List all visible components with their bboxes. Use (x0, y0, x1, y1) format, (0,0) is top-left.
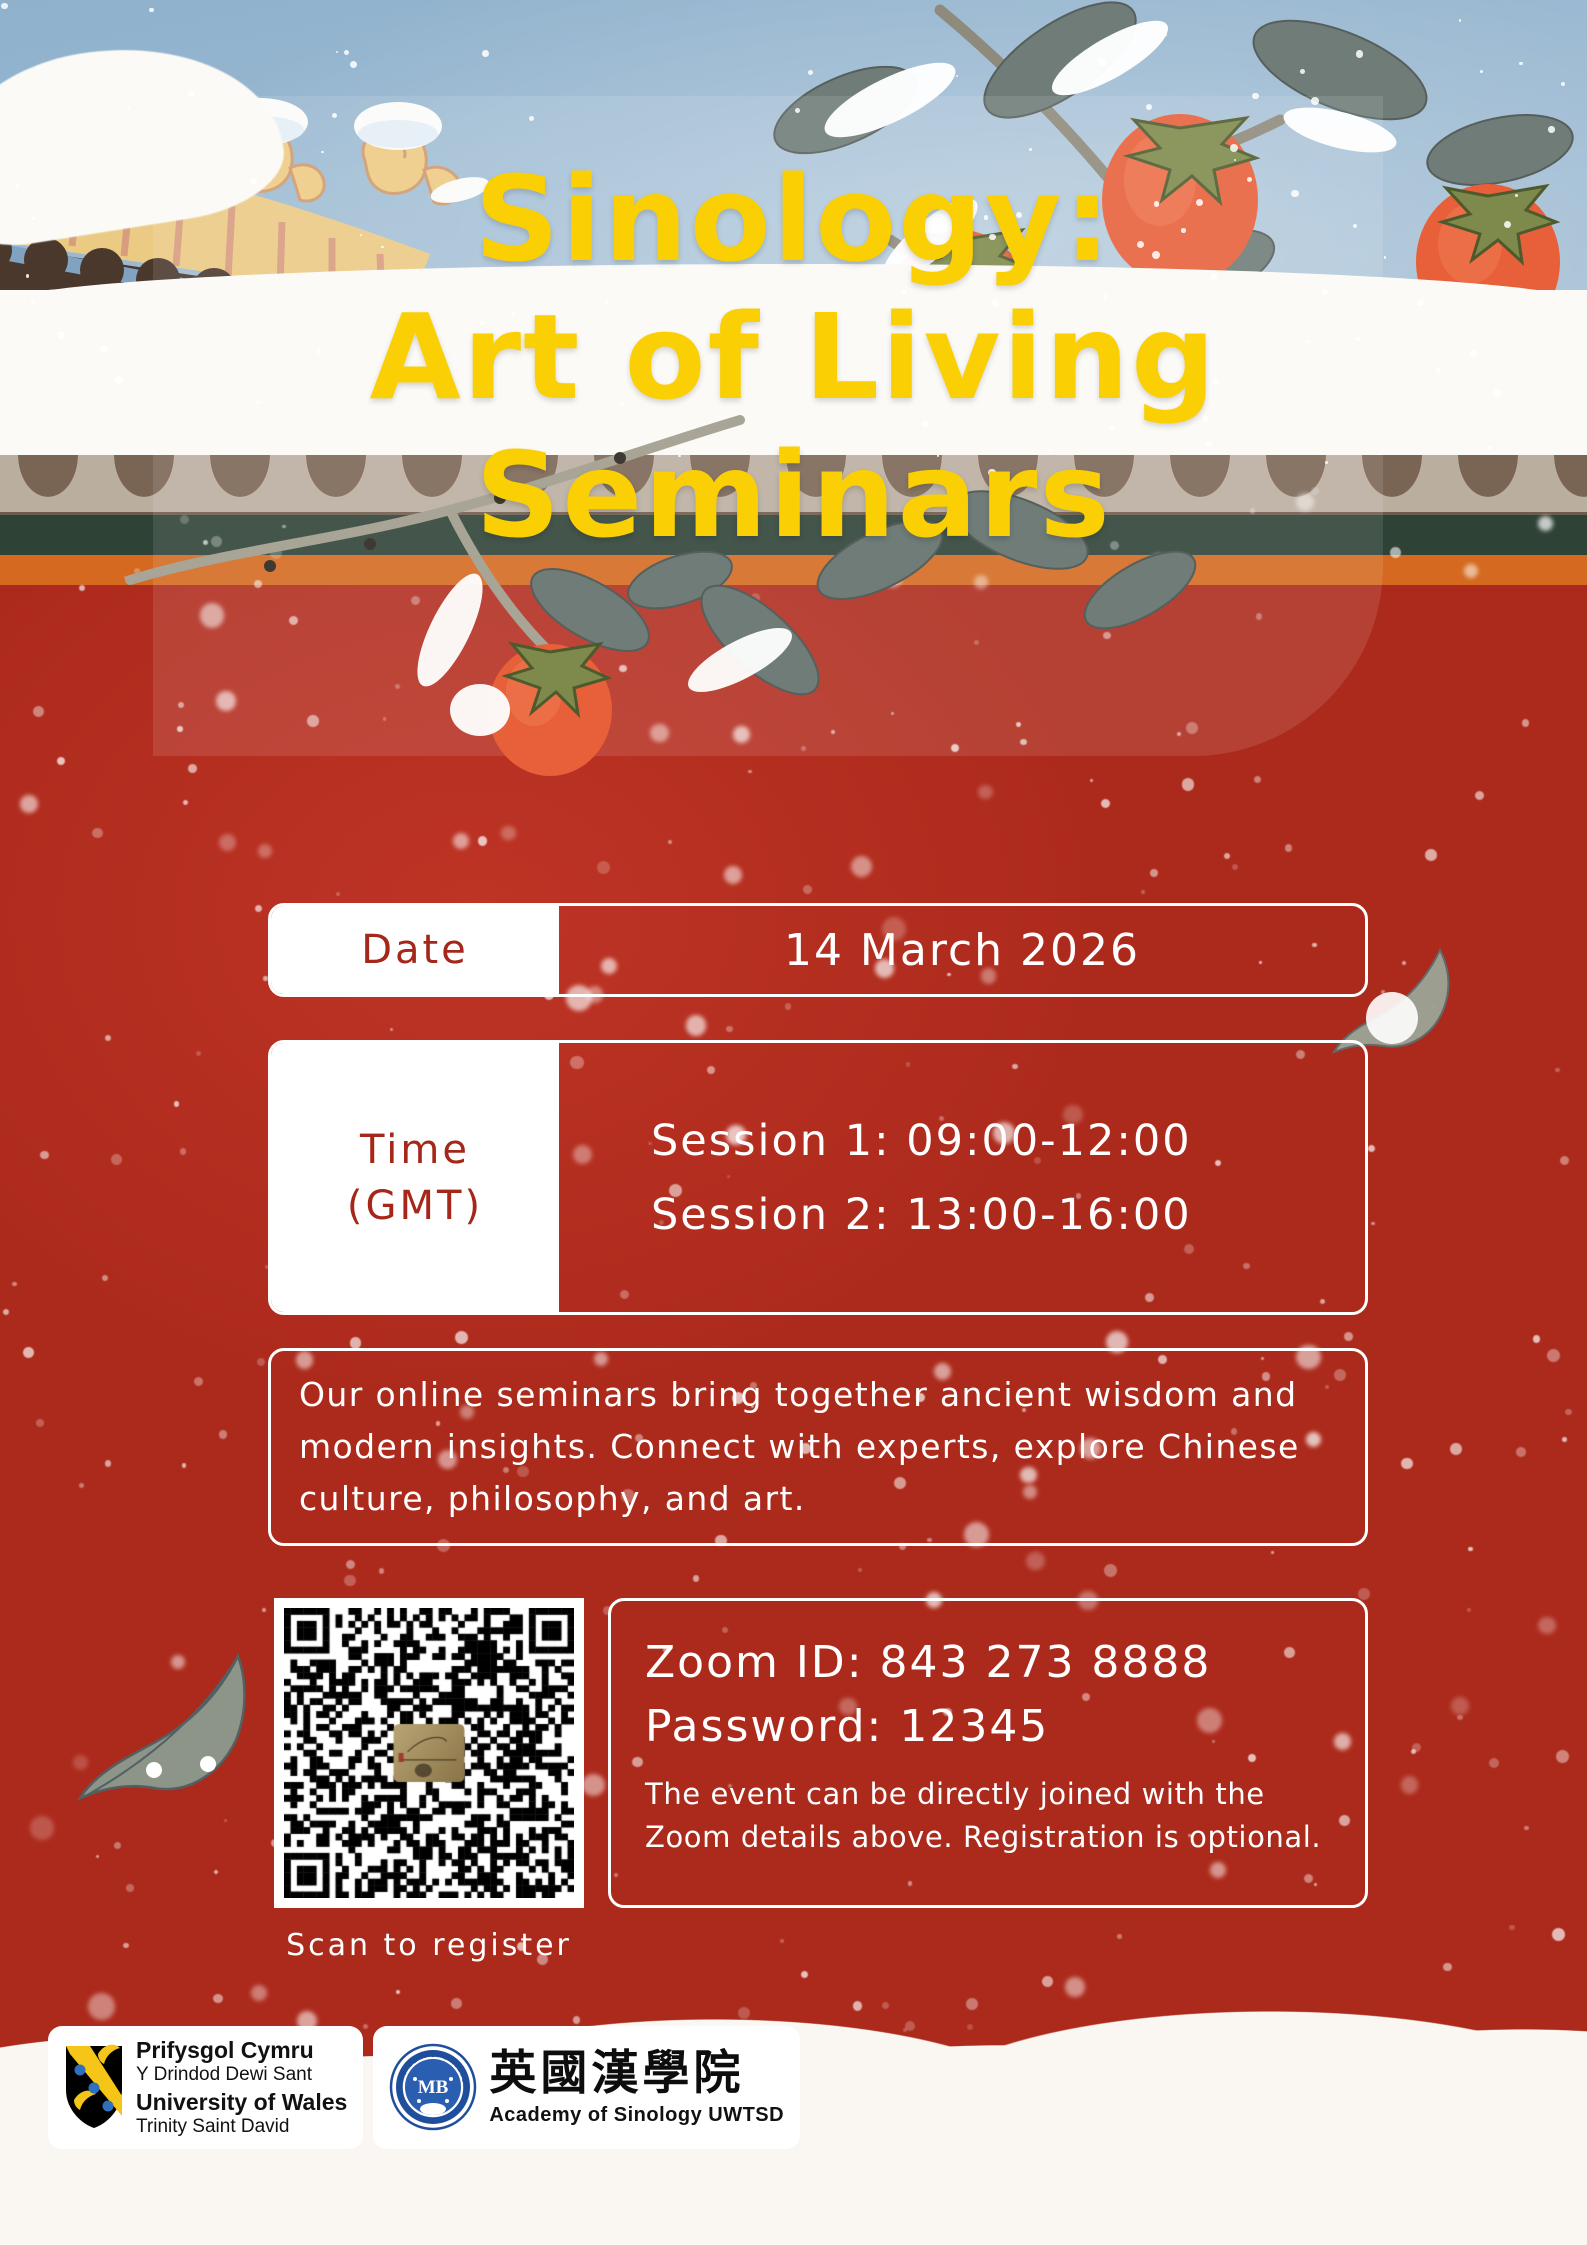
date-value: 14 March 2026 (559, 906, 1365, 994)
svg-text:MB: MB (418, 2077, 449, 2098)
zoom-id: Zoom ID: 843 273 8888 (645, 1631, 1331, 1695)
qr-block: Scan to register (274, 1598, 584, 1963)
uwtsd-shield-icon (64, 2044, 124, 2130)
sinology-chinese-name: 英國漢學院 (489, 2049, 784, 2098)
uwtsd-line-2: Y Drindod Dewi Sant (136, 2064, 347, 2085)
uwtsd-line-1: Prifysgol Cymru (136, 2038, 347, 2064)
time-label-line2: (GMT) (347, 1178, 483, 1234)
uwtsd-logo-card: Prifysgol Cymru Y Drindod Dewi Sant Univ… (48, 2026, 363, 2149)
poster-canvas: Sinology: Art of Living Seminars Date 14… (0, 0, 1587, 2245)
session-2: Session 2: 13:00-16:00 (651, 1178, 1192, 1252)
zoom-password: Password: 12345 (645, 1695, 1331, 1759)
page-title: Sinology: Art of Living Seminars (0, 150, 1587, 564)
sinology-logo-card: MB ACADEMY OF SINOLOGY UWTSD 英國漢學院 Acade… (373, 2026, 800, 2149)
falling-leaf-icon (68, 1636, 258, 1806)
academy-of-sinology-seal-icon: MB ACADEMY OF SINOLOGY UWTSD (389, 2043, 477, 2131)
date-row: Date 14 March 2026 (268, 903, 1368, 997)
title-line-3: Seminars (0, 426, 1587, 564)
time-sessions: Session 1: 09:00-12:00 Session 2: 13:00-… (559, 1043, 1365, 1312)
qr-caption: Scan to register (274, 1928, 584, 1963)
sinology-logo-text: 英國漢學院 Academy of Sinology UWTSD (489, 2049, 784, 2125)
title-line-1: Sinology: (0, 150, 1587, 288)
time-label-line1: Time (360, 1122, 470, 1178)
description-text: Our online seminars bring together ancie… (299, 1369, 1337, 1525)
uwtsd-logo-text: Prifysgol Cymru Y Drindod Dewi Sant Univ… (136, 2038, 347, 2137)
sinology-english-name: Academy of Sinology UWTSD (489, 2105, 784, 2126)
title-line-2: Art of Living (0, 288, 1587, 426)
footer-logos: Prifysgol Cymru Y Drindod Dewi Sant Univ… (48, 2026, 800, 2149)
time-row: Time (GMT) Session 1: 09:00-12:00 Sessio… (268, 1040, 1368, 1315)
time-label: Time (GMT) (271, 1043, 559, 1312)
date-label: Date (271, 906, 559, 994)
zoom-note: The event can be directly joined with th… (645, 1773, 1331, 1859)
zoom-details-box: Zoom ID: 843 273 8888 Password: 12345 Th… (608, 1598, 1368, 1908)
uwtsd-line-3: University of Wales (136, 2090, 347, 2116)
description-box: Our online seminars bring together ancie… (268, 1348, 1368, 1546)
session-1: Session 1: 09:00-12:00 (651, 1104, 1192, 1178)
uwtsd-line-4: Trinity Saint David (136, 2116, 347, 2137)
qr-code[interactable] (274, 1598, 584, 1908)
qr-code-canvas[interactable] (284, 1608, 574, 1898)
